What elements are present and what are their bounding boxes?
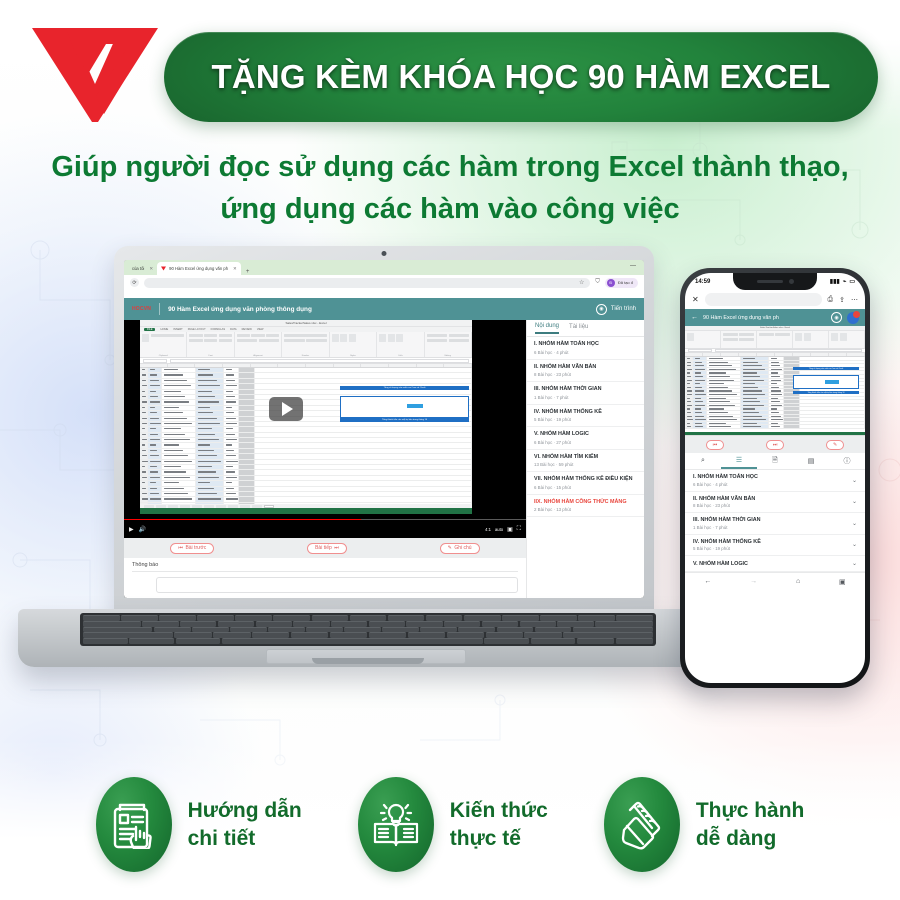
feature-badge-3 [604,777,680,872]
feature-huong-dan-chi-tiet: Hướng dẫn chi tiết [96,777,302,872]
progress-label: Tiến trình [611,306,636,312]
excel-cell [769,361,784,364]
excel-cell [140,406,148,410]
excel-cell [224,427,239,431]
excel-cell [784,422,800,425]
notice-section: Thông báo [124,558,526,598]
excel-group-label: Editing [427,355,469,357]
phone-lesson-navigation: ⏮ ⏭ ✎ [685,436,865,453]
excel-cell [769,386,784,389]
account-chip[interactable]: Đ Đã tạo đ [605,278,638,288]
excel-cell [224,368,239,372]
phone-video-area[interactable]: SalesTrackerSales.xlsx - Excel [685,326,865,436]
chevron-down-icon[interactable]: ⌄ [852,520,857,527]
excel-cell [148,438,162,442]
excel-group-label: Number [284,355,326,357]
notes-icon[interactable]: ▤ [793,453,829,469]
excel-tab-home[interactable]: HOME [160,328,168,331]
excel-cell [196,449,224,453]
excel-cell [769,418,784,421]
extensions-icon[interactable]: ⛉ [595,279,600,286]
excel-cell [196,465,224,469]
excel-cell [148,427,162,431]
excel-cell [196,497,224,501]
excel-cell [239,476,255,480]
excel-name-box[interactable] [143,359,167,363]
sidebar-chapter-title: IIX. NHÓM HÀM CÔNG THỨC MẢNG [534,499,637,506]
progress-icon: ◉ [596,304,607,315]
browser-back-icon[interactable]: ← [704,578,711,585]
browser-tab-strip: của tôi ✕ 90 Hàm Excel ứng dụng văn ph ✕… [124,260,644,275]
phone-chapter-text: IV. NHÓM HÀM THỐNG KÊ5 Bài học · 19 phút [693,539,852,552]
excel-cell [707,375,741,378]
excel-cell [707,404,741,407]
keyboard-key [531,638,576,644]
excel-cell [196,368,224,372]
excel-cell [162,433,196,437]
excel-cell [255,427,472,431]
previous-lesson-button[interactable]: ⏮ Bài trước [170,543,214,554]
excel-tab-pagelayout[interactable]: PAGE LAYOUT [188,328,206,331]
avatar[interactable] [847,312,859,324]
excel-cell [162,460,196,464]
excel-cell [769,425,784,428]
phone-chapter-item[interactable]: III. NHÓM HÀM THỜI GIAN1 Bài học · 7 phú… [685,513,865,535]
course-progress[interactable]: ◉ Tiến trình [596,304,636,315]
excel-cell [162,368,196,372]
excel-chart-banner-top: Tổng số lượng sản xuất của Cam và Chuối [793,367,859,370]
excel-cell [140,368,148,372]
close-icon[interactable]: ✕ [149,266,153,272]
phone-body: 14:59 ▮▮▮ ⌁ ▭ ✕ ⎙ ⇪ ⋯ ← 90 Hàm Exce [680,268,870,688]
excel-cell [693,415,707,418]
excel-cell [769,357,784,360]
excel-cell [685,404,693,407]
excel-cell [196,443,224,447]
sidebar-chapter-title: II. NHÓM HÀM VĂN BẢN [534,364,637,371]
excel-group-label: Styles [332,355,374,357]
excel-cell [741,386,769,389]
excel-cell [255,497,472,501]
notes-button[interactable]: ✎ [826,440,844,450]
excel-cell [239,422,255,426]
excel-cell [239,454,255,458]
excel-cell [741,389,769,392]
notice-input[interactable] [156,577,518,593]
excel-cell [239,470,255,474]
excel-cell [162,422,196,426]
reload-icon[interactable]: ⟳ [130,278,139,287]
feature-thuc-hanh-de-dang: Thực hành dễ dàng [604,777,805,872]
wifi-icon: ⌁ [843,278,847,285]
next-lesson-button[interactable]: ⏭ [766,440,785,450]
phone-chapter-item[interactable]: IV. NHÓM HÀM THỐNG KÊ5 Bài học · 19 phút… [685,535,865,557]
play-pause-icon[interactable]: ▶ [129,526,134,533]
phone-notch [733,273,817,290]
sidebar-chapter-item[interactable]: V. NHÓM HÀM LOGIC6 Bài học · 27 phút [527,427,644,450]
excel-cell [162,395,196,399]
excel-cell [196,427,224,431]
phone-chapter-item[interactable]: V. NHÓM HÀM LOGIC⌄ [685,556,865,572]
sidebar-chapter-item[interactable]: III. NHÓM HÀM THỜI GIAN1 Bài học · 7 phú… [527,382,644,405]
sidebar-chapter-item[interactable]: VI. NHÓM HÀM TÌM KIẾM13 Bài học · 59 phú… [527,450,644,473]
browser-tab-inactive[interactable]: của tôi ✕ [128,262,157,275]
excel-cell [707,361,741,364]
excel-cell [707,357,741,360]
excel-cell [255,487,472,491]
excel-cell [239,427,255,431]
excel-cell [196,476,224,480]
contents-icon[interactable]: ☰ [721,453,757,469]
excel-cell [196,470,224,474]
play-button[interactable] [269,397,303,421]
excel-cell [707,371,741,374]
excel-cell [140,433,148,437]
excel-cell [741,393,769,396]
excel-cell [741,400,769,403]
excel-cell [148,395,162,399]
theater-mode-icon[interactable]: ▣ [507,526,513,533]
more-icon[interactable]: ⋯ [851,296,858,304]
excel-cell [741,382,769,385]
excel-chart-banner-bottom: Tổng thành tiền các mặt tự bán trong thá… [340,418,469,422]
excel-cell [769,375,784,378]
excel-cell [685,386,693,389]
excel-cell [693,357,707,360]
excel-cell [140,384,148,388]
excel-cell [255,433,472,437]
excel-cell [224,449,239,453]
video-auto-label[interactable]: auto [495,527,503,532]
browser-window: của tôi ✕ 90 Hàm Excel ứng dụng văn ph ✕… [124,260,644,598]
excel-cell [140,373,148,377]
tab-tai-lieu[interactable]: Tài liệu [569,324,588,333]
excel-cell [239,443,255,447]
sidebar-chapter-item[interactable]: IIX. NHÓM HÀM CÔNG THỨC MẢNG2 Bài học · … [527,495,644,518]
excel-cell [707,418,741,421]
excel-cell [148,373,162,377]
excel-ribbon: Clipboard Font [140,332,472,358]
excel-cell [196,454,224,458]
excel-cell [196,406,224,410]
excel-grid: Tổng số lượng sản xuất của Cam và Chuối … [140,364,472,514]
header: TẶNG KÈM KHÓA HỌC 90 HÀM EXCEL [0,0,900,140]
keyboard-key [222,638,483,644]
excel-cell [741,361,769,364]
excel-cell [162,390,196,394]
video-progress-fill [124,519,361,521]
excel-cell [224,443,239,447]
excel-cell [239,492,255,496]
share-icon[interactable]: ⇪ [839,296,845,304]
excel-cell [162,406,196,410]
video-progress-bar[interactable] [124,519,526,521]
progress-icon[interactable]: ◉ [831,312,842,323]
bookmark-star-icon[interactable]: ☆ [579,279,584,286]
excel-cell [741,411,769,414]
excel-cell [685,364,693,367]
tabs-icon[interactable]: ▣ [839,578,846,586]
excel-cell [784,418,800,421]
laptop-lid: của tôi ✕ 90 Hàm Excel ứng dụng văn ph ✕… [114,246,654,613]
excel-cell [148,406,162,410]
feature-label-2: Kiến thức thực tế [450,797,548,853]
excel-tab-insert[interactable]: INSERT [173,328,182,331]
excel-cell [769,371,784,374]
excel-cell [224,433,239,437]
back-icon[interactable]: ← [691,314,698,321]
excel-cell [224,379,239,383]
feature-badge-2 [358,777,434,872]
chevron-down-icon[interactable]: ⌄ [852,477,857,484]
sidebar-chapter-title: I. NHÓM HÀM TOÁN HỌC [534,341,637,348]
excel-ribbon-group: Editing [425,332,472,357]
excel-cell [741,418,769,421]
sidebar-chapter-meta: 6 Bài học · 4 phút [534,350,637,355]
excel-cell [196,400,224,404]
site-logo[interactable]: HOCVN [132,306,151,312]
excel-cell [707,386,741,389]
minimize-button[interactable]: — [630,263,636,269]
excel-cell [769,368,784,371]
excel-cell [224,476,239,480]
phone-chapter-item[interactable]: I. NHÓM HÀM TOÁN HỌC6 Bài học · 4 phút⌄ [685,470,865,492]
phone-chapter-list: I. NHÓM HÀM TOÁN HỌC6 Bài học · 4 phút⌄I… [685,470,865,572]
address-bar-input[interactable]: ☆ [144,278,590,288]
info-icon[interactable]: ⓘ [829,453,865,469]
excel-cell [707,411,741,414]
excel-ribbon [685,331,865,349]
excel-cell [196,460,224,464]
excel-cell [224,417,239,421]
excel-cell [162,384,196,388]
excel-cell [140,379,148,383]
excel-cell [693,411,707,414]
fullscreen-icon[interactable]: ⛶ [517,526,521,533]
excel-cell [239,465,255,469]
excel-cell [140,492,148,496]
excel-cell [800,371,865,374]
home-icon[interactable]: ⌂ [796,578,800,585]
next-lesson-button[interactable]: Bài tiếp ⏭ [307,543,347,554]
excel-cell [196,481,224,485]
excel-formula-input[interactable] [170,359,469,363]
excel-cell [685,361,693,364]
excel-cell [255,373,472,377]
excel-chart-panel [793,375,859,389]
volume-icon[interactable]: 🔊 [139,526,146,533]
browser-forward-icon[interactable]: → [750,578,757,585]
favicon-icon [161,266,166,271]
feature-label-3-line2: dễ dàng [696,825,805,853]
excel-cell [162,400,196,404]
excel-cell [148,411,162,415]
sidebar-chapter-title: V. NHÓM HÀM LOGIC [534,431,637,438]
browser-bookmarks-bar [124,290,644,298]
excel-title-bar: SalesTrackerSales.xlsx - Excel [140,320,472,327]
close-icon[interactable]: ✕ [233,266,237,272]
excel-cell [148,368,162,372]
excel-cell [239,417,255,421]
excel-cell [162,476,196,480]
excel-cell [741,422,769,425]
notes-button[interactable]: ✎ Ghi chú [440,543,480,554]
excel-cell [741,407,769,410]
excel-cell [784,425,800,428]
phone-chapter-meta: 8 Bài học · 23 phút [693,503,852,508]
excel-cell [769,422,784,425]
excel-cell [800,422,865,425]
excel-cell [693,422,707,425]
excel-cell [196,390,224,394]
excel-cell [685,411,693,414]
tab-noi-dung[interactable]: Nội dung [535,323,559,334]
document-icon[interactable]: 🗎 [757,453,793,469]
excel-cell [685,371,693,374]
excel-cell [224,497,239,501]
previous-lesson-button[interactable]: ⏮ [706,440,725,450]
excel-cell [685,393,693,396]
sidebar-tabs: Nội dung Tài liệu [527,320,644,337]
excel-cell [693,425,707,428]
player-column: SalesTrackerSales.xlsx - Excel FILE HOME… [124,320,526,598]
browser-tab-inactive-label: của tôi [132,266,144,271]
excel-cell [239,406,255,410]
feature-label-1: Hướng dẫn chi tiết [188,797,302,853]
search-icon[interactable]: ⌕ [685,453,721,469]
excel-cell [224,406,239,410]
previous-icon: ⏮ [178,545,183,551]
excel-cell [239,379,255,383]
excel-cell [162,373,196,377]
excel-cell [224,460,239,464]
excel-ribbon-group: Clipboard [140,332,187,357]
excel-cell [800,397,865,400]
notice-title: Thông báo [132,562,518,572]
status-indicators: ▮▮▮ ⌁ ▭ [830,278,855,285]
phone-mockup: 14:59 ▮▮▮ ⌁ ▭ ✕ ⎙ ⇪ ⋯ ← 90 Hàm Exce [680,268,870,688]
laptop-keyboard [80,613,656,646]
browser-tab-active[interactable]: 90 Hàm Excel ứng dụng văn ph ✕ [157,262,241,275]
feature-label-1-line1: Hướng dẫn [188,797,302,825]
excel-cell [784,404,800,407]
excel-cell [693,389,707,392]
sidebar-chapter-title: VII. NHÓM HÀM THỐNG KÊ ĐIỀU KIỆN [534,476,637,483]
phone-chapter-meta: 5 Bài học · 19 phút [693,546,852,551]
excel-cell [685,422,693,425]
phone-chapter-item[interactable]: II. NHÓM HÀM VĂN BẢN8 Bài học · 23 phút⌄ [685,492,865,514]
keyboard-key [577,638,614,644]
excel-cell [148,460,162,464]
laptop-trackpad [266,649,466,664]
excel-cell [784,411,800,414]
excel-cell [239,481,255,485]
feature-badge-1 [96,777,172,872]
excel-cell [224,492,239,496]
excel-cell [148,443,162,447]
excel-cell [800,415,865,418]
sidebar-chapter-item[interactable]: I. NHÓM HÀM TOÁN HỌC6 Bài học · 4 phút [527,337,644,360]
excel-cell [148,449,162,453]
excel-tab-review[interactable]: REVIEW [242,328,252,331]
device-mockups: của tôi ✕ 90 Hàm Excel ứng dụng văn ph ✕… [0,236,900,756]
excel-tab-file[interactable]: FILE [144,328,155,331]
phone-chapter-title: V. NHÓM HÀM LOGIC [693,561,852,567]
excel-cell [769,382,784,385]
excel-cell [707,389,741,392]
excel-cell [784,400,800,403]
close-icon[interactable]: ✕ [692,295,699,304]
excel-cell [148,417,162,421]
excel-cell [707,422,741,425]
sidebar-chapter-item[interactable]: VII. NHÓM HÀM THỐNG KÊ ĐIỀU KIỆN6 Bài họ… [527,472,644,495]
excel-cell [196,433,224,437]
excel-cell [148,384,162,388]
excel-cell [685,382,693,385]
lesson-navigation: ⏮ Bài trước Bài tiếp ⏭ ✎ Ghi chú [124,538,526,558]
phone-browser-bar: ✕ ⎙ ⇪ ⋯ [685,290,865,309]
excel-cell [741,375,769,378]
excel-cell [741,357,769,360]
video-player[interactable]: SalesTrackerSales.xlsx - Excel FILE HOME… [124,320,526,538]
excel-cell [685,418,693,421]
feature-label-1-line2: chi tiết [188,825,302,853]
excel-cell [769,397,784,400]
excel-cell [800,404,865,407]
phone-course-title: 90 Hàm Excel ứng dụng văn ph [703,315,826,321]
sidebar-chapter-title: III. NHÓM HÀM THỜI GIAN [534,386,637,393]
excel-cell [224,373,239,377]
excel-cell [162,492,196,496]
excel-cell [741,397,769,400]
excel-cell [741,415,769,418]
pencil-icon: ✎ [448,545,452,551]
feature-kien-thuc-thuc-te: Kiến thức thực tế [358,777,548,872]
phone-chapter-meta: 1 Bài học · 7 phút [693,525,852,530]
excel-cell [148,465,162,469]
excel-cell [148,481,162,485]
chevron-down-icon[interactable]: ⌄ [852,498,857,505]
chevron-down-icon[interactable]: ⌄ [852,560,857,567]
excel-cell [224,422,239,426]
excel-cell [140,449,148,453]
excel-cell [741,425,769,428]
sidebar-chapter-item[interactable]: II. NHÓM HÀM VĂN BẢN8 Bài học · 23 phút [527,360,644,383]
sidebar-chapter-item[interactable]: IV. NHÓM HÀM THỐNG KÊ5 Bài học · 19 phút [527,405,644,428]
feature-label-3-line1: Thực hành [696,797,805,825]
excel-tab-formulas[interactable]: FORMULAS [211,328,225,331]
excel-cell [148,422,162,426]
excel-ribbon-group: Font [187,332,234,357]
excel-cell [148,497,162,501]
new-tab-button[interactable]: + [241,269,255,275]
excel-cell [693,371,707,374]
excel-cell [693,386,707,389]
excel-tab-view[interactable]: VIEW [257,328,264,331]
excel-cell [693,393,707,396]
excel-tab-data[interactable]: DATA [230,328,237,331]
excel-cell [140,400,148,404]
sidebar-chapter-title: IV. NHÓM HÀM THỐNG KÊ [534,409,637,416]
chevron-down-icon[interactable]: ⌄ [852,541,857,548]
excel-cell [239,411,255,415]
excel-cell [741,368,769,371]
bookmark-icon[interactable]: ⎙ [828,296,834,304]
excel-cell [239,460,255,464]
excel-cell [140,487,148,491]
webcam-icon [382,251,387,256]
phone-address-bar[interactable] [705,293,822,306]
